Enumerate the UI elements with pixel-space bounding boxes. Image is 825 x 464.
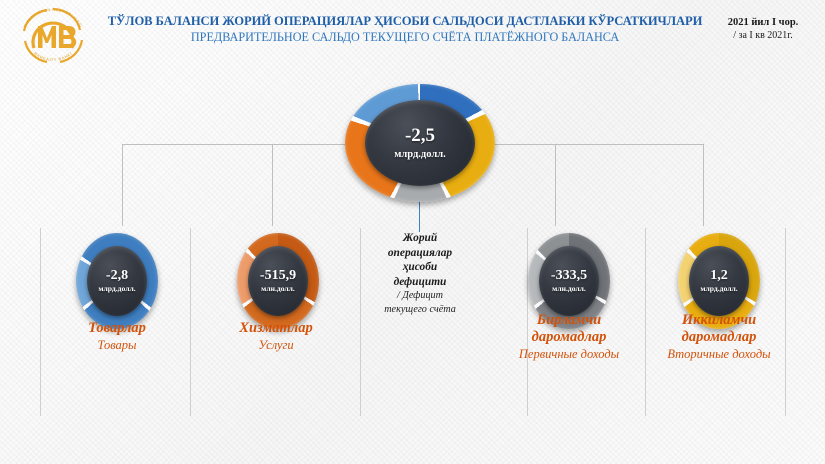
category-label-goods: Товарлар Товары xyxy=(27,320,207,353)
category-label-services: Хизматлар Услуги xyxy=(186,320,366,353)
primary-income-unit: млн.долл. xyxy=(552,285,586,293)
period-russian: / за I кв 2021г. xyxy=(709,29,817,42)
goods-label-russian: Товары xyxy=(27,337,207,353)
donut-hub-secondary-income: 1,2 млрд.долл. xyxy=(689,246,749,316)
center-caption-uz-3: ҳисоби xyxy=(350,260,490,275)
infographic-slide: O'ZBEKISTON RESPUBLIKASI MARKAZIY BANKI … xyxy=(0,0,825,464)
services-label-uzbek: Хизматлар xyxy=(186,320,366,337)
center-unit: млрд.долл. xyxy=(394,149,446,160)
donut-hub-services: -515,9 млн.долл. xyxy=(248,246,308,316)
connector-drop-secondary xyxy=(703,144,704,226)
donut-chart-goods: -2,8 млрд.долл. xyxy=(76,233,158,329)
donut-hub-goods: -2,8 млрд.долл. xyxy=(87,246,147,316)
goods-label-uzbek: Товарлар xyxy=(27,320,207,337)
period-label: 2021 йил I чор. / за I кв 2021г. xyxy=(709,16,817,42)
connector-drop-goods xyxy=(122,144,123,226)
goods-unit: млрд.долл. xyxy=(98,285,135,293)
donut-chart-services: -515,9 млн.долл. xyxy=(237,233,319,329)
services-unit: млн.долл. xyxy=(261,285,295,293)
title-uzbek: ТЎЛОВ БАЛАНСИ ЖОРИЙ ОПЕРАЦИЯЛАР ҲИСОБИ С… xyxy=(100,14,710,29)
center-caption-ru-2: текущего счёта xyxy=(350,303,490,317)
secondary-income-unit: млрд.долл. xyxy=(700,285,737,293)
secondary-income-label-uz-1: Иккиламчи xyxy=(629,312,809,329)
secondary-income-value: 1,2 xyxy=(710,269,728,283)
center-caption: Жорий операциялар ҳисоби дефицити / Дефи… xyxy=(350,231,490,317)
center-caption-ru-1: / Дефицит xyxy=(350,289,490,303)
donut-hub-primary-income: -333,5 млн.долл. xyxy=(539,246,599,316)
services-value: -515,9 xyxy=(260,269,296,283)
connector-drop-primary xyxy=(555,144,556,226)
donut-chart-current-account: -2,5 млрд.долл. xyxy=(345,84,495,202)
goods-value: -2,8 xyxy=(106,269,128,283)
title-russian: ПРЕДВАРИТЕЛЬНОЕ САЛЬДО ТЕКУЩЕГО СЧЁТА ПЛ… xyxy=(100,30,710,45)
page-title: ТЎЛОВ БАЛАНСИ ЖОРИЙ ОПЕРАЦИЯЛАР ҲИСОБИ С… xyxy=(100,14,710,45)
svg-text:O'ZBEKISTON RESPUBLIKASI: O'ZBEKISTON RESPUBLIKASI xyxy=(22,7,84,28)
category-label-secondary-income: Иккиламчи даромадлар Вторичные доходы xyxy=(629,312,809,362)
connector-drop-services xyxy=(272,144,273,226)
secondary-income-label-russian: Вторичные доходы xyxy=(629,346,809,362)
secondary-income-label-uz-2: даромадлар xyxy=(629,329,809,346)
center-caption-uz-2: операциялар xyxy=(350,246,490,261)
center-caption-uz-1: Жорий xyxy=(350,231,490,246)
central-bank-logo: O'ZBEKISTON RESPUBLIKASI MARKAZIY BANKI xyxy=(14,4,92,64)
donut-center-hub: -2,5 млрд.долл. xyxy=(365,100,475,186)
primary-income-value: -333,5 xyxy=(551,269,587,283)
center-caption-uz-4: дефицити xyxy=(350,275,490,290)
period-uzbek: 2021 йил I чор. xyxy=(709,16,817,29)
center-value: -2,5 xyxy=(405,126,435,145)
services-label-russian: Услуги xyxy=(186,337,366,353)
